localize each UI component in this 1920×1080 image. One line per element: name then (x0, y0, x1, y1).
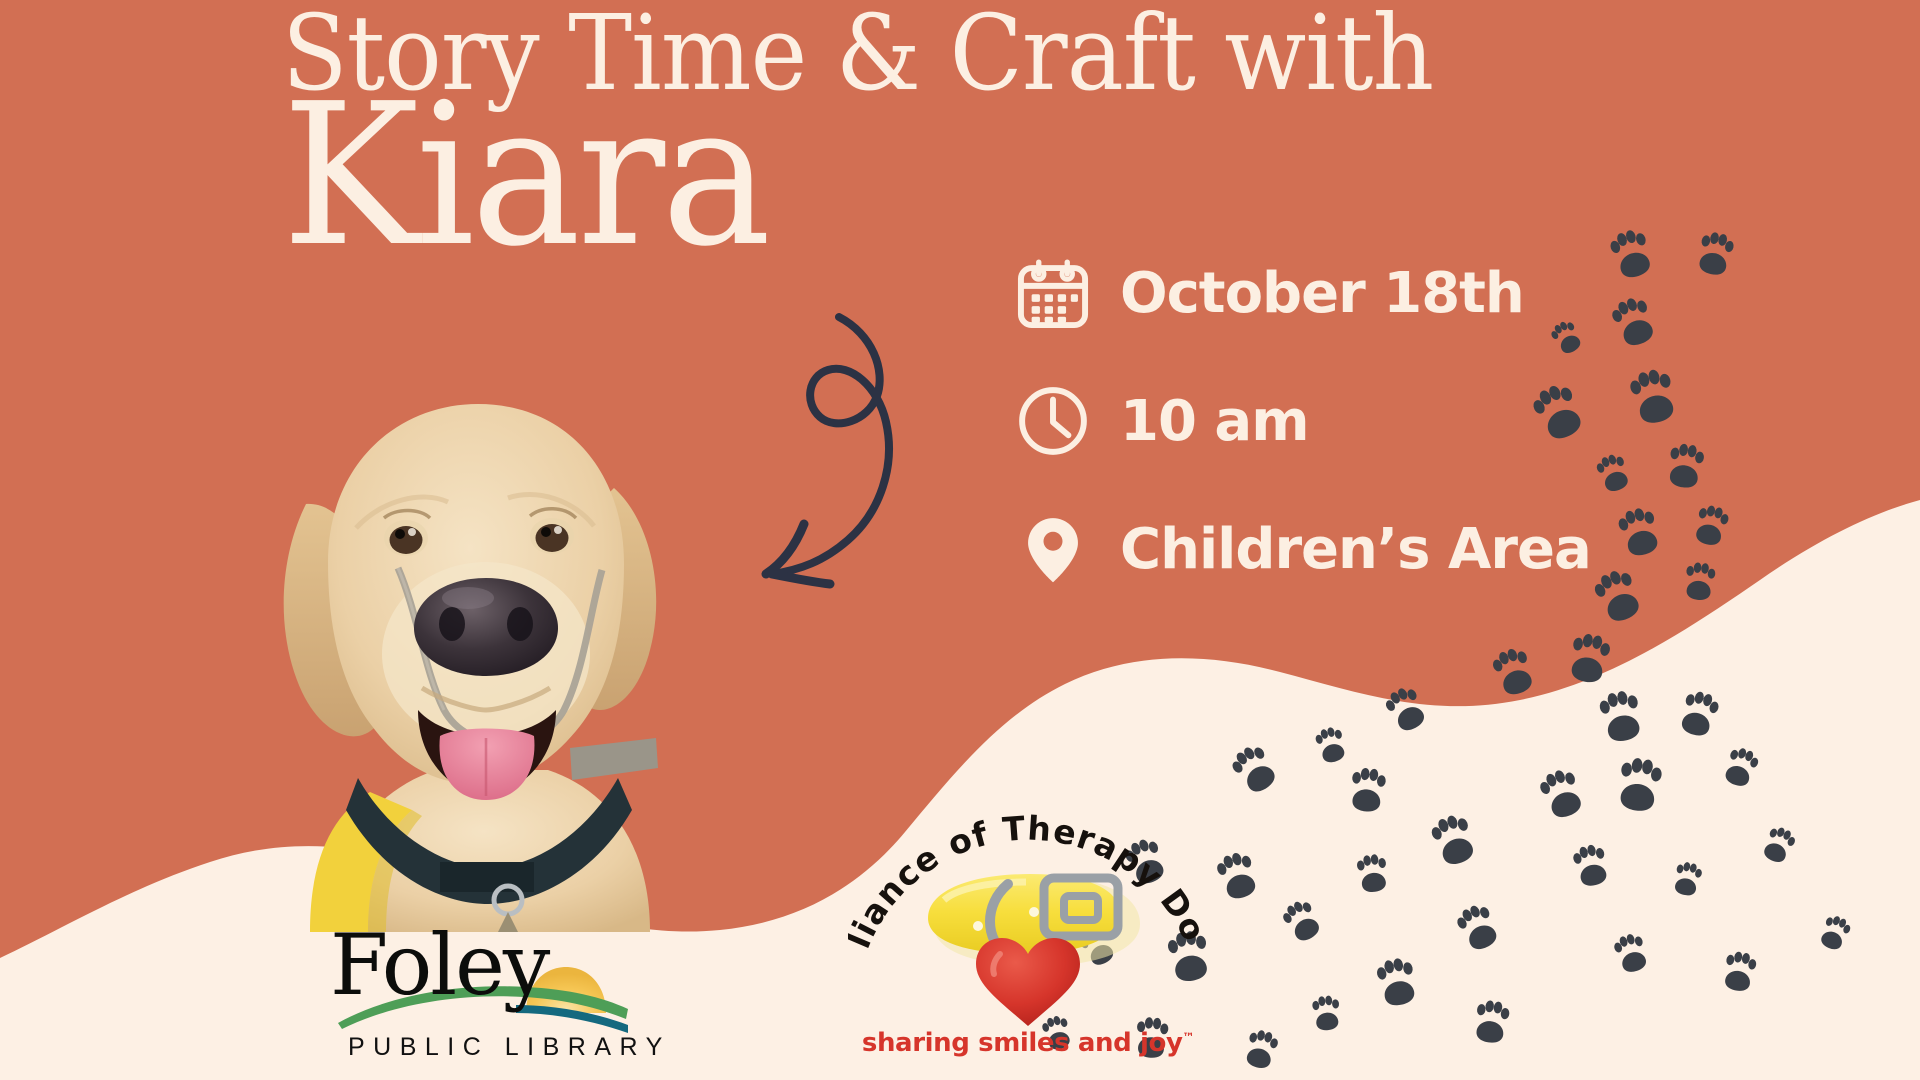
atd-tagline-text: sharing smiles and joy (862, 1028, 1183, 1058)
detail-label-time: 10 am (1120, 389, 1309, 454)
detail-label-location: Children’s Area (1120, 517, 1591, 582)
detail-row-date: October 18th (1012, 238, 1591, 348)
detail-row-time: 10 am (1012, 366, 1591, 476)
foley-logo-wordmark: Foley (330, 923, 548, 1007)
foley-logo-subtitle: PUBLIC LIBRARY (348, 1033, 671, 1062)
detail-row-location: Children’s Area (1012, 494, 1591, 604)
atd-trademark-symbol: ™ (1183, 1030, 1195, 1044)
poster-canvas: Story Time & Craft with Kiara (0, 0, 1920, 1080)
alliance-of-therapy-dogs-logo: Alliance of Therapy Dogs sharing smiles … (848, 778, 1208, 1078)
curly-arrow-doodle (700, 290, 950, 602)
event-details: October 18th 10 am Children’s Area (1012, 238, 1591, 622)
detail-label-date: October 18th (1120, 261, 1524, 326)
calendar-icon (1012, 252, 1094, 334)
foley-public-library-logo: Foley PUBLIC LIBRARY (330, 925, 630, 1065)
therapy-dog-photo (272, 392, 702, 932)
atd-tagline: sharing smiles and joy™ (848, 1028, 1208, 1058)
clock-icon (1012, 380, 1094, 462)
location-pin-icon (1012, 508, 1094, 590)
